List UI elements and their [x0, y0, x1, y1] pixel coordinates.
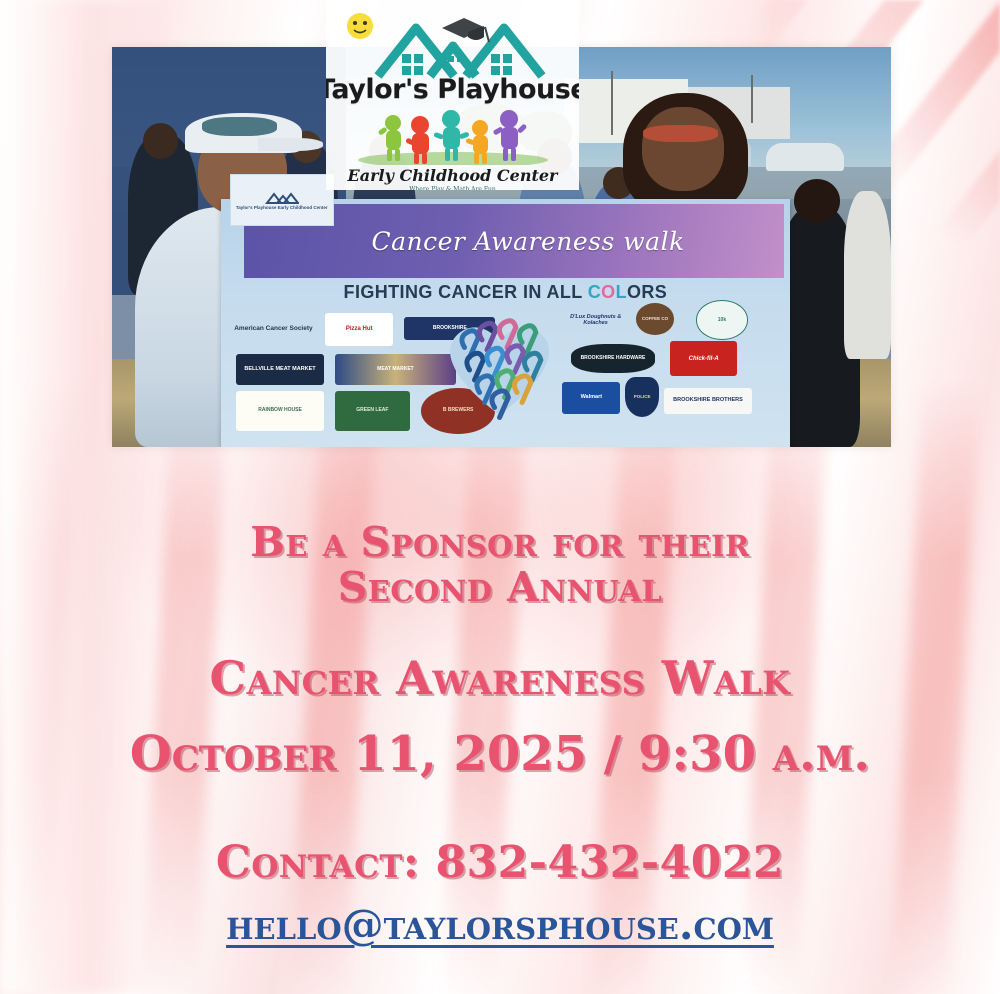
sun-icon — [347, 13, 373, 39]
house-windows-icon — [402, 54, 512, 75]
logo-children-graphic — [348, 107, 558, 165]
photo-crowd-child-head — [794, 179, 841, 223]
event-title: Cancer Awareness Walk — [0, 654, 1000, 703]
sponsor-logo: RAINBOW HOUSE — [236, 391, 324, 432]
banner-org-name: Taylor's Playhouse Early Childhood Cente… — [236, 205, 328, 210]
photo-light-pole — [611, 71, 613, 135]
sponsor-logo: BROOKSHIRE BROTHERS — [664, 388, 752, 415]
photo-car — [766, 143, 844, 171]
banner-tagline-o: O — [601, 282, 615, 302]
photo-crowd-person-head — [143, 123, 178, 159]
photo-crowd-person — [844, 191, 891, 359]
flyer-copy-block: Be a Sponsor for their Second Annual Can… — [0, 455, 1000, 949]
banner-houses-icon — [265, 190, 299, 204]
sponsor-logo: American Cancer Society — [230, 311, 318, 349]
logo-tagline: Where Play & Math Are Fun — [409, 186, 495, 190]
graduation-cap-icon — [442, 18, 489, 42]
sponsor-logo: D'Lux Doughnuts & Kolaches — [567, 303, 625, 338]
banner-script-text: Cancer Awareness walk — [272, 206, 784, 275]
sponsor-logo: COFFEE CO — [636, 303, 675, 335]
sponsor-logo: 10k — [696, 300, 748, 339]
event-datetime: October 11, 2025 / 9:30 a.m. — [0, 729, 1000, 780]
photo-woman-right-sunglasses — [643, 125, 718, 142]
sponsor-logo: Chick-fil-A — [670, 341, 737, 376]
headline-line-1: Be a Sponsor for their — [0, 521, 1000, 564]
sponsor-logo: Pizza Hut — [325, 313, 393, 346]
flyer-poster: Cancer Awareness walk Taylor's Playhouse… — [0, 0, 1000, 994]
banner-tagline-post: ORS — [627, 282, 667, 302]
banner-tagline-l: L — [616, 282, 627, 302]
banner-tagline-c: C — [588, 282, 601, 302]
headline-line-2: Second Annual — [0, 566, 1000, 609]
contact-email-link[interactable]: hello@taylorsphouse.com — [0, 900, 1000, 949]
sponsor-logo: GREEN LEAF — [335, 391, 410, 432]
sponsor-logo: BELLVILLE MEAT MARKET — [236, 354, 324, 384]
photo-woman-right-head — [642, 107, 724, 191]
contact-phone[interactable]: Contact: 832-432-4022 — [0, 840, 1000, 887]
photo-woman-left-sunglasses — [202, 117, 277, 135]
sponsor-logo-grid-right: D'Lux Doughnuts & Kolaches COFFEE CO 10k… — [562, 303, 778, 439]
sponsor-logo: Walmart — [562, 382, 620, 414]
sponsor-logo: BROOKSHIRE HARDWARE — [571, 344, 655, 373]
banner-sign: Cancer Awareness walk Taylor's Playhouse… — [221, 199, 790, 447]
banner-org-logo-tile: Taylor's Playhouse Early Childhood Cente… — [230, 174, 334, 226]
sponsor-logo: POLICE — [625, 377, 659, 417]
photo-light-pole — [751, 75, 753, 123]
logo-subtitle: Early Childhood Center — [348, 166, 558, 185]
logo-houses-graphic — [338, 6, 568, 80]
taylors-playhouse-logo: Taylor's Playhouse — [326, 0, 579, 190]
ribbon-heart-graphic — [437, 298, 562, 427]
